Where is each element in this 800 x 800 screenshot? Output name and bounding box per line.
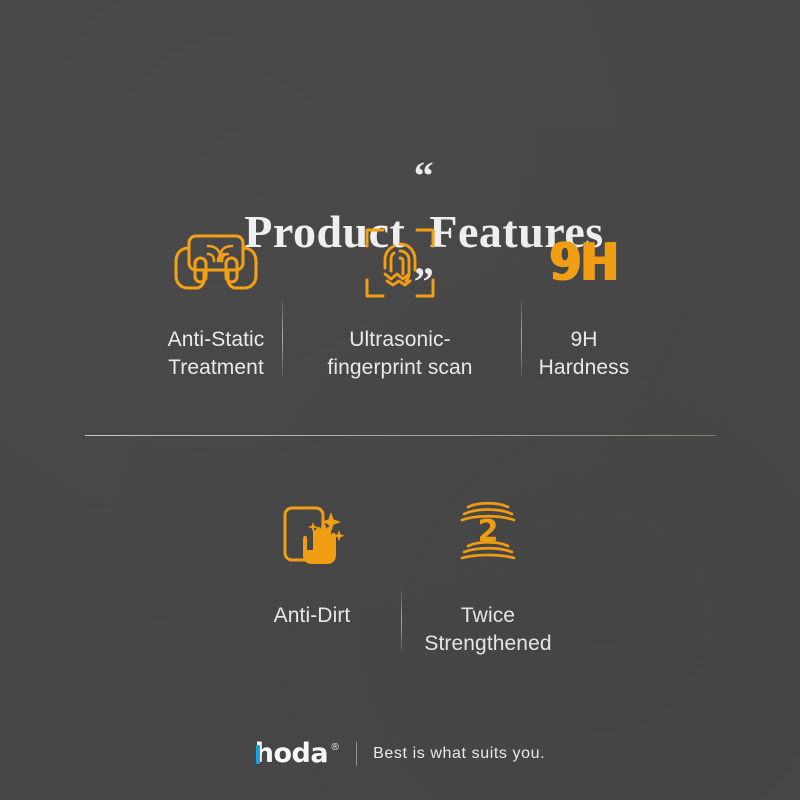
quote-open: “ xyxy=(414,153,435,198)
feature-label: Anti-Dirt xyxy=(274,602,351,630)
feature-poster: “ Product Features ” xyxy=(0,0,800,800)
logo-blue-accent xyxy=(256,745,260,764)
brand-tagline: Best is what suits you. xyxy=(373,745,545,763)
feature-9h-hardness: 9H 9H Hardness xyxy=(492,222,676,382)
registered-mark: ® xyxy=(330,742,340,753)
feature-label: Ultrasonic- fingerprint scan xyxy=(327,326,472,382)
hands-holding-phone-static-icon xyxy=(124,222,308,304)
feature-label: Twice Strengthened xyxy=(424,602,551,658)
brand-name-text: hoda xyxy=(255,738,328,769)
9h-hardness-badge-icon: 9H xyxy=(492,222,676,304)
feature-row-bottom: Anti-Dirt 2 Twice Strengthened xyxy=(0,492,800,658)
footer-divider xyxy=(356,742,357,766)
column-divider xyxy=(282,300,283,376)
footer: hoda ® Best is what suits you. xyxy=(0,740,800,767)
brand-name: hoda xyxy=(255,740,328,767)
hoda-logo: hoda ® xyxy=(255,740,340,767)
column-divider xyxy=(401,590,402,652)
row-divider xyxy=(85,435,715,436)
twice-strengthened-layers-icon: 2 xyxy=(400,492,576,574)
feature-label: Anti-Static Treatment xyxy=(168,326,265,382)
fingerprint-scan-icon xyxy=(308,222,492,304)
column-divider xyxy=(521,300,522,376)
feature-ultrasonic-fingerprint: Ultrasonic- fingerprint scan xyxy=(308,222,492,382)
9h-badge-text: 9H xyxy=(550,237,618,289)
feature-anti-static: Anti-Static Treatment xyxy=(124,222,308,382)
feature-label: 9H Hardness xyxy=(539,326,630,382)
feature-anti-dirt: Anti-Dirt xyxy=(224,492,400,658)
feature-row-top: Anti-Static Treatment xyxy=(0,222,800,382)
svg-text:2: 2 xyxy=(478,514,499,549)
hand-wiping-screen-sparkle-icon xyxy=(224,492,400,574)
feature-twice-strengthened: 2 Twice Strengthened xyxy=(400,492,576,658)
